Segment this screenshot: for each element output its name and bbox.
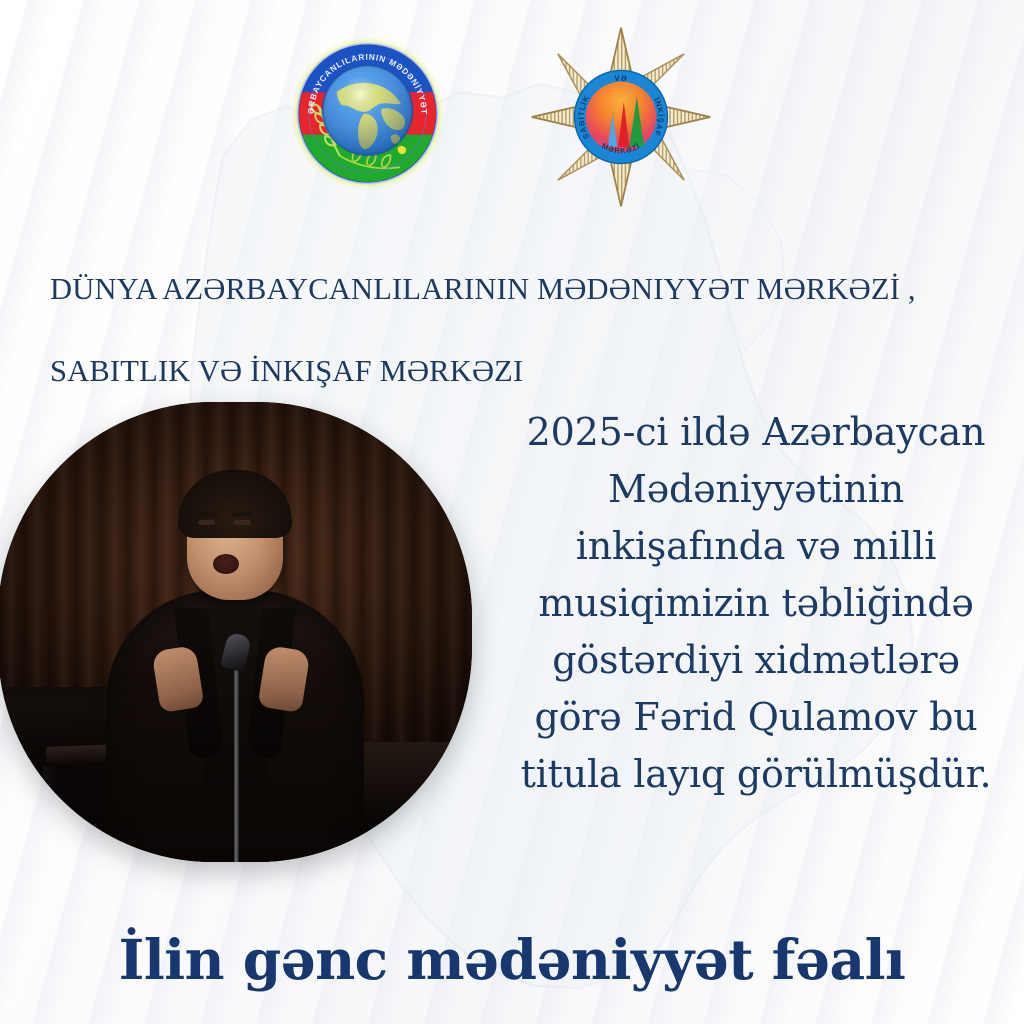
performer-photo xyxy=(0,402,472,862)
award-description-l7: titula layıq görülmüşdür. xyxy=(521,752,992,796)
piano-leg xyxy=(43,766,59,862)
logo-row: DÜNYA AZƏRBAYCANLILARININ MƏDƏNİYYƏT MƏR… xyxy=(0,16,1024,216)
award-description: 2025-ci ildə Azərbaycan Mədəniyyətinin i… xyxy=(494,404,1018,803)
performer-eye-left xyxy=(198,520,215,525)
award-description-l3: inkişafında və milli xyxy=(576,524,936,568)
award-description-l5: göstərdiyi xidmətlərə xyxy=(552,638,960,682)
award-description-l6: görə Fərid Qulamov bu xyxy=(534,695,977,739)
performer-eye-right xyxy=(234,520,251,525)
award-poster: DÜNYA AZƏRBAYCANLILARININ MƏDƏNİYYƏT MƏR… xyxy=(0,0,1024,1024)
globe-emblem-logo: DÜNYA AZƏRBAYCANLILARININ MƏDƏNİYYƏT MƏR… xyxy=(286,32,449,195)
award-description-l4: musiqimizin təbliğində xyxy=(538,581,973,625)
award-description-l1: 2025-ci ildə Azərbaycan xyxy=(527,410,986,454)
performer-photo-scene xyxy=(0,402,472,862)
award-description-l2: Mədəniyyətinin xyxy=(608,467,904,511)
org-heading-line1: DÜNYA AZƏRBAYCANLILARININ MƏDƏNIYYƏT MƏR… xyxy=(50,272,916,306)
performer-hair xyxy=(178,470,292,538)
microphone-stand xyxy=(234,660,239,862)
award-title: İlin gənc mədəniyyət fəalı xyxy=(0,925,1024,995)
eight-point-star-logo: VƏ MƏRKƏZİ SABİTLİK İNKİŞAF xyxy=(528,24,714,210)
performer-mouth xyxy=(213,554,239,574)
piano-body-right xyxy=(348,742,472,862)
org-heading-line2: SABITLIK VƏ İNKIŞAF MƏRKƏZI xyxy=(50,351,1000,392)
